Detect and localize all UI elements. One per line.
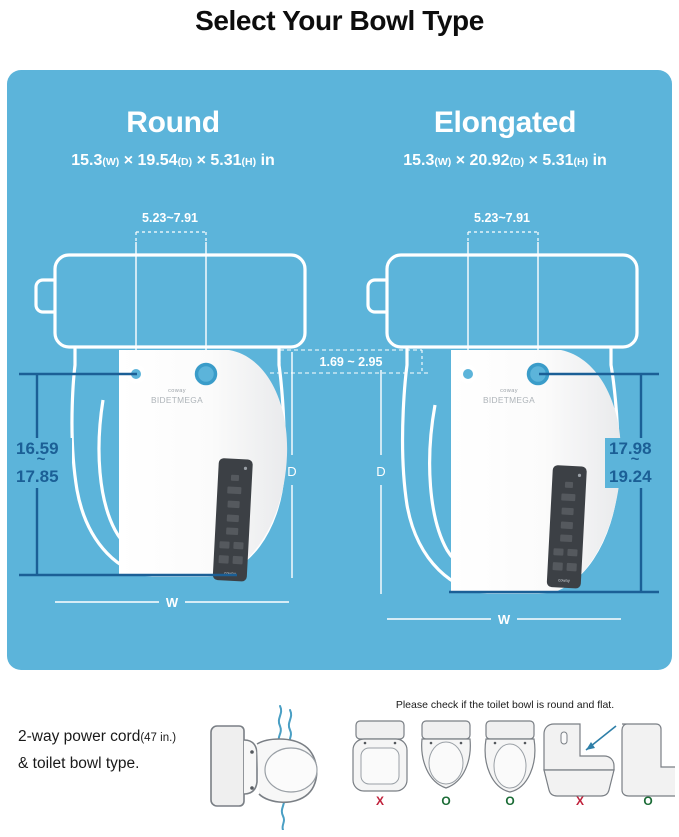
dim-sep-2: ×	[529, 152, 538, 169]
width-label-elongated: W	[498, 612, 511, 627]
power-cord-note: 2-way power cord(47 in.) & toilet bowl t…	[18, 724, 228, 777]
dim-h-value: 5.31	[210, 152, 241, 169]
depth-label-round: D	[287, 464, 296, 479]
remote-btn-right	[566, 563, 576, 572]
height-label-bottom: 17.85	[16, 467, 59, 486]
diagram-elongated: 5.23~7.91 coway BIDETMEGA	[339, 200, 671, 640]
height-label-tilde: ~	[631, 451, 640, 468]
remote-btn-minus	[233, 542, 243, 550]
remote-btn-4	[561, 521, 573, 529]
dim-w-sub: (W)	[434, 156, 451, 168]
bidet-unit-body	[211, 726, 244, 806]
remote-btn-3	[561, 508, 573, 516]
column-heading-round: Round 15.3(W) × 19.54(D) × 5.31(H) in	[7, 106, 339, 173]
bowl-check-title: Please check if the toilet bowl is round…	[340, 699, 670, 711]
brand-bidetmega: BIDETMEGA	[483, 395, 535, 405]
mount-hole-right	[197, 365, 216, 384]
toilet-tank-outline	[55, 255, 305, 347]
dim-h-sub: (H)	[242, 156, 257, 168]
dim-sep-1: ×	[456, 152, 465, 169]
column-heading-elongated: Elongated 15.3(W) × 20.92(D) × 5.31(H) i…	[339, 106, 671, 173]
remote-btn-right	[232, 556, 242, 565]
remote-btn-minus	[567, 549, 577, 557]
top-measure-label-round: 5.23~7.91	[142, 211, 198, 225]
dim-w-value: 15.3	[71, 152, 102, 169]
bidet-topview-illustration	[205, 700, 330, 830]
dim-sep-1: ×	[124, 152, 133, 169]
remote-control: coway	[213, 458, 253, 582]
center-gap-measure: 1.69 ~ 2.95	[270, 340, 430, 400]
center-gap-label: 1.69 ~ 2.95	[320, 355, 383, 369]
remote-btn-left	[552, 562, 562, 571]
verdict-marks-row: X O O X O	[350, 794, 675, 814]
remote-btn-2	[227, 486, 241, 494]
bottom-section: 2-way power cord(47 in.) & toilet bowl t…	[0, 690, 679, 837]
bowl-dims-round: 15.3(W) × 19.54(D) × 5.31(H) in	[7, 150, 339, 173]
verdict-mark-1: X	[368, 794, 392, 808]
verdict-mark-2: O	[434, 794, 458, 808]
dim-sep-2: ×	[197, 152, 206, 169]
remote-btn-1	[231, 475, 239, 481]
dim-d-value: 19.54	[138, 152, 178, 169]
dim-d-value: 20.92	[470, 152, 510, 169]
bowl-icon-sloped-sideview	[544, 724, 616, 796]
bidet-seat-opening	[265, 748, 317, 792]
top-measure-label-elongated: 5.23~7.91	[474, 211, 530, 225]
bowl-dims-elongated: 15.3(W) × 20.92(D) × 5.31(H) in	[339, 150, 671, 173]
bidet-hinge-bottom	[250, 786, 254, 790]
cord-note-paren: (47 in.)	[140, 732, 176, 744]
bidet-hinge-top	[250, 750, 254, 754]
dim-unit: in	[261, 152, 275, 169]
remote-btn-5	[560, 534, 572, 542]
bowl-icon-round-topview	[422, 721, 471, 788]
height-label-bottom: 19.24	[609, 467, 652, 486]
depth-label-elongated: D	[376, 464, 385, 479]
remote-btn-4	[227, 514, 239, 522]
toilet-tank-outline	[387, 255, 637, 347]
diagram-round: 5.23~7.91 coway BIDETMEGA	[7, 200, 339, 640]
remote-btn-plus	[553, 548, 563, 556]
brand-bidetmega: BIDETMEGA	[151, 395, 203, 405]
remote-btn-1	[565, 482, 573, 488]
dim-unit: in	[593, 152, 607, 169]
bowl-name-elongated: Elongated	[339, 106, 671, 140]
remote-btn-3	[227, 501, 239, 509]
width-label-round: W	[166, 595, 179, 610]
dim-h-value: 5.31	[542, 152, 573, 169]
verdict-mark-5: O	[636, 794, 660, 808]
brand-coway: coway	[500, 388, 518, 394]
cord-note-line2: & toilet bowl type.	[18, 755, 139, 772]
dim-d-sub: (D)	[178, 156, 193, 168]
cord-note-main: 2-way power cord	[18, 728, 140, 745]
bowl-icon-square-topview	[353, 721, 407, 791]
remote-btn-5	[226, 527, 238, 535]
dim-w-sub: (W)	[102, 156, 119, 168]
infographic-root: Select Your Bowl Type Round 15.3(W) × 19…	[0, 0, 679, 837]
remote-btn-left	[218, 555, 228, 564]
bowl-icon-elongated-topview	[485, 721, 535, 792]
steam-line-top	[279, 706, 282, 742]
brand-coway: coway	[168, 388, 186, 394]
height-label-tilde: ~	[37, 451, 46, 468]
verdict-mark-4: X	[568, 794, 592, 808]
bowl-type-icons	[350, 718, 675, 800]
remote-btn-2	[561, 493, 575, 501]
bowl-icon-flat-sideview	[622, 724, 675, 796]
bowl-name-round: Round	[7, 106, 339, 140]
remote-control: coway	[547, 465, 587, 589]
mount-hole-left-inner	[463, 369, 473, 379]
remote-btn-plus	[219, 541, 229, 549]
remote-brand: coway	[558, 577, 571, 583]
steam-line-top-2	[289, 710, 291, 744]
dim-w-value: 15.3	[403, 152, 434, 169]
tank-flush-lever	[368, 280, 387, 312]
tank-flush-lever	[36, 280, 55, 312]
verdict-mark-3: O	[498, 794, 522, 808]
dim-h-sub: (H)	[574, 156, 589, 168]
page-title: Select Your Bowl Type	[0, 0, 679, 42]
bidet-neck	[244, 740, 257, 794]
dim-d-sub: (D)	[510, 156, 525, 168]
